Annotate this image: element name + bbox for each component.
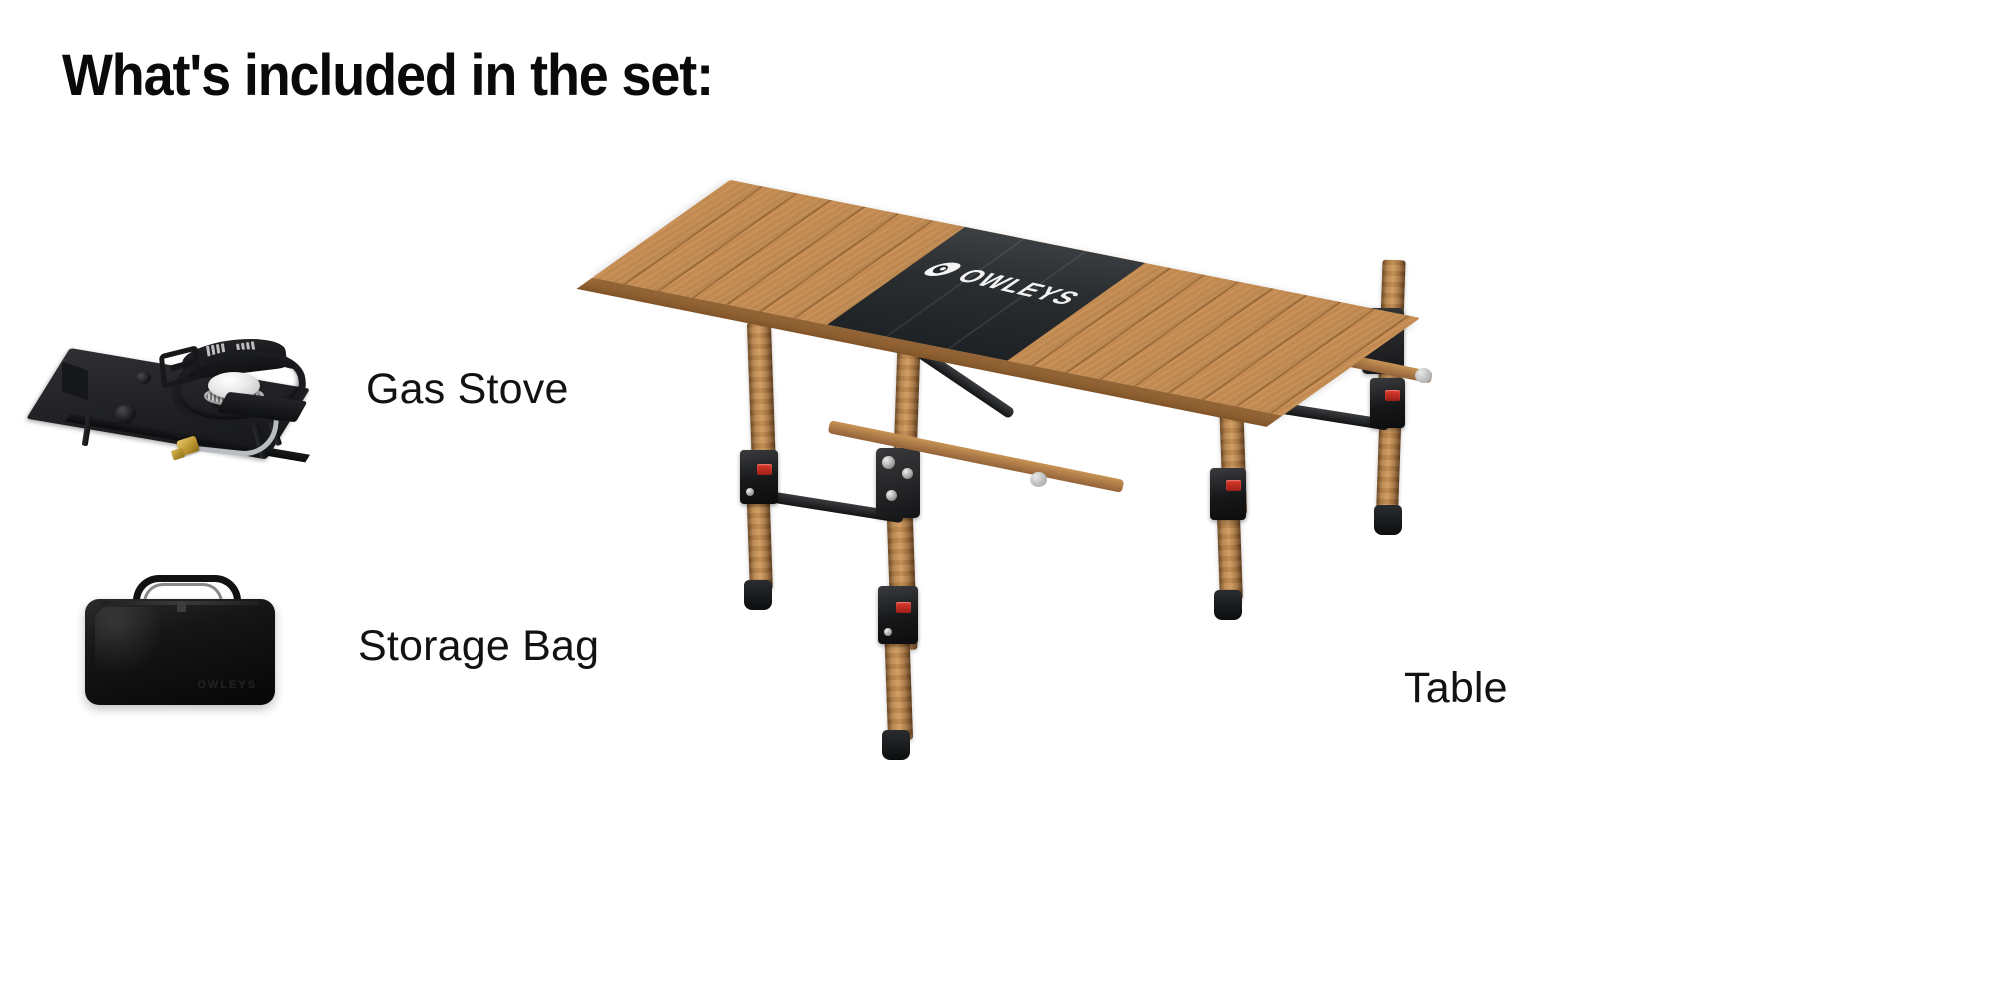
storage-bag-label: Storage Bag [358, 622, 599, 671]
leg-clamp-back-left [1210, 468, 1246, 520]
height-release-button-back-left [1226, 480, 1241, 491]
bag-zipper-pull [177, 601, 186, 612]
hose-brass-nut [171, 447, 186, 460]
bag-highlight [95, 607, 165, 677]
table-foot-front-left [744, 580, 772, 610]
table-foot-back-right [1374, 505, 1402, 535]
table-foot-front-right [882, 730, 910, 760]
gas-stove-label: Gas Stove [366, 365, 569, 414]
stove-control-knob [115, 405, 136, 422]
table-label: Table [1404, 664, 1508, 713]
leg-clamp-front-right [878, 586, 918, 644]
rail-end-cap-front [1030, 472, 1047, 487]
storage-bag-image: OWLEYS [85, 575, 275, 705]
table-foot-back-left [1214, 590, 1242, 620]
product-infographic: What's included in the set: [0, 0, 2000, 1000]
stove-burner-assembly [168, 336, 298, 422]
leg-clamp-front-left [740, 450, 778, 504]
tabletop-surface: OWLEYS [592, 180, 1420, 416]
leg-clamp-back-right [1370, 378, 1405, 428]
bag-brand-emboss: OWLEYS [197, 679, 257, 691]
height-release-button-front-left [757, 464, 772, 475]
rail-end-cap-back [1415, 368, 1432, 383]
page-title: What's included in the set: [62, 42, 713, 109]
gas-stove-image [60, 320, 330, 450]
stove-knob-rear [136, 372, 151, 384]
height-release-button-front-right [896, 602, 911, 613]
height-release-button-back-right [1385, 390, 1400, 401]
table-image: OWLEYS [700, 150, 1500, 680]
table-apron-front [828, 420, 1125, 493]
